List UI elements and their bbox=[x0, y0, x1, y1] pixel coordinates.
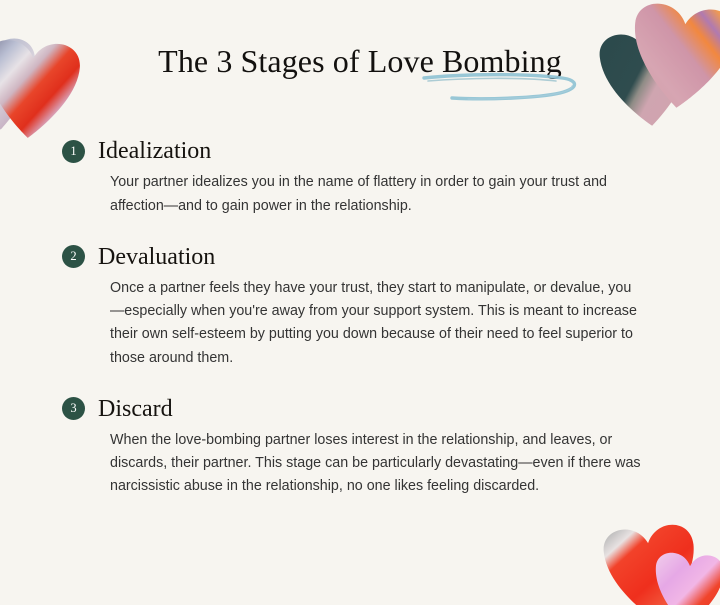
stage-number-badge-2: 2 bbox=[62, 245, 85, 268]
heart-top-left-icon bbox=[0, 22, 104, 152]
stage-header-2: 2 Devaluation bbox=[62, 244, 662, 270]
stage-title-3: Discard bbox=[98, 396, 173, 422]
stage-body-3: When the love-bombing partner loses inte… bbox=[110, 429, 642, 498]
stage-item-1: 1 Idealization Your partner idealizes yo… bbox=[62, 138, 662, 218]
stage-body-1: Your partner idealizes you in the name o… bbox=[110, 171, 642, 217]
stage-item-3: 3 Discard When the love-bombing partner … bbox=[62, 396, 662, 499]
stage-header-1: 1 Idealization bbox=[62, 138, 662, 164]
stage-number-badge-3: 3 bbox=[62, 397, 85, 420]
swoosh-underline-icon bbox=[422, 70, 582, 104]
stage-number-badge-1: 1 bbox=[62, 140, 85, 163]
infographic-canvas: The 3 Stages of Love Bombing 1 Idealizat… bbox=[0, 0, 720, 605]
title-block: The 3 Stages of Love Bombing bbox=[0, 44, 720, 79]
heart-bottom-right-icon bbox=[598, 509, 720, 605]
stage-item-2: 2 Devaluation Once a partner feels they … bbox=[62, 244, 662, 370]
stage-body-2: Once a partner feels they have your trus… bbox=[110, 277, 642, 370]
stages-list: 1 Idealization Your partner idealizes yo… bbox=[62, 138, 662, 499]
stage-title-1: Idealization bbox=[98, 138, 211, 164]
page-title: The 3 Stages of Love Bombing bbox=[0, 44, 720, 79]
stage-header-3: 3 Discard bbox=[62, 396, 662, 422]
stage-title-2: Devaluation bbox=[98, 244, 215, 270]
